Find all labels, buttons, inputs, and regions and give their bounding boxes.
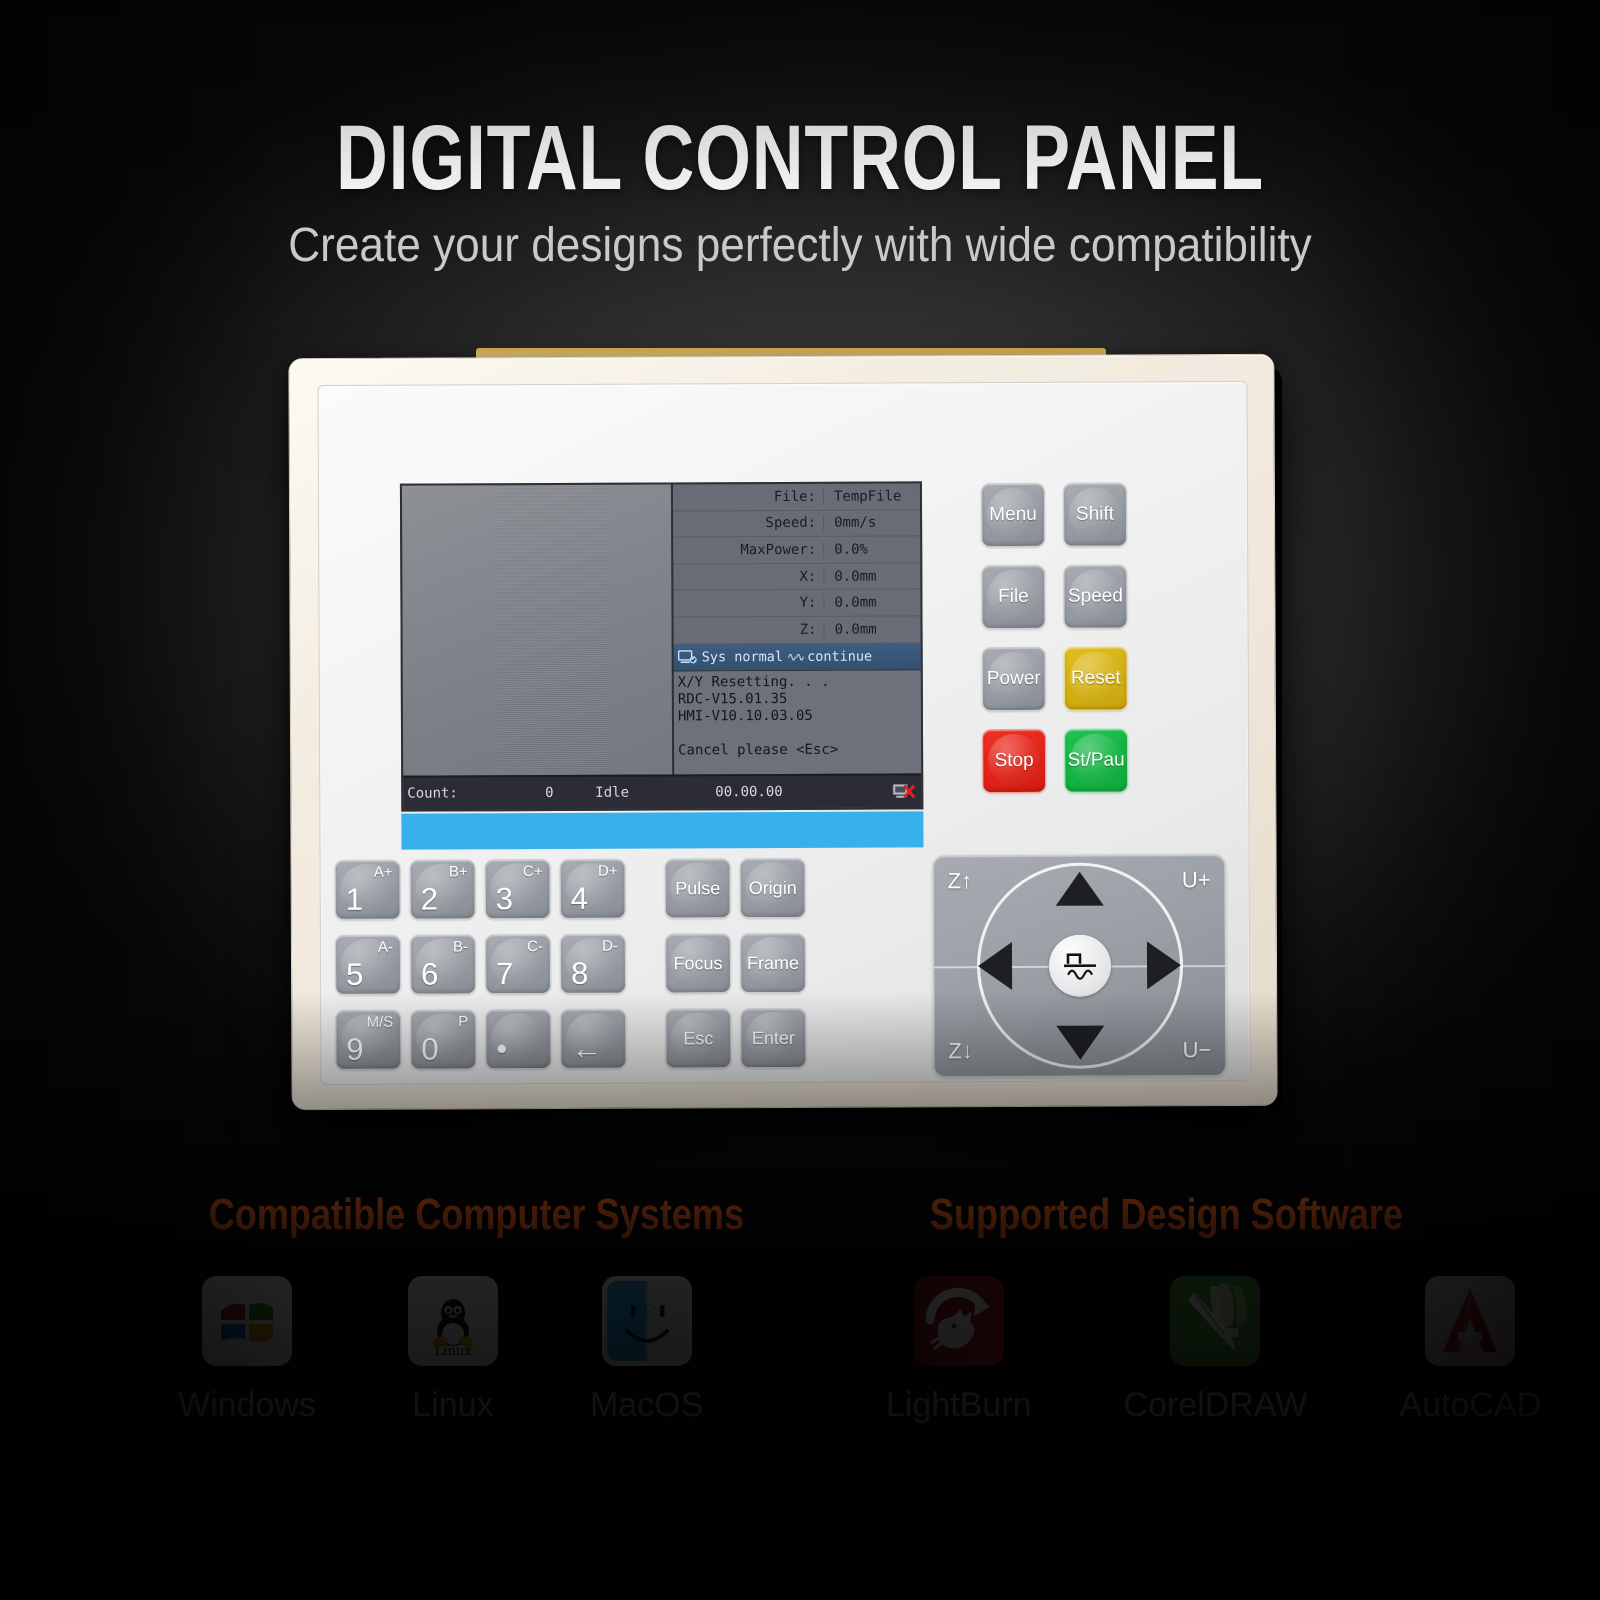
vignette-overlay (0, 0, 1600, 1600)
